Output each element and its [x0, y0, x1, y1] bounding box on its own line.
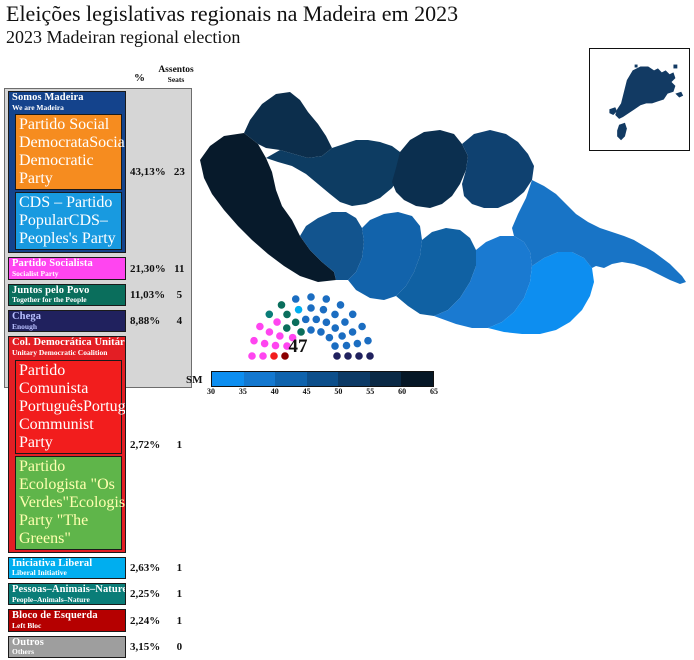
legend-party-swatch-chega[interactable]: ChegaEnough	[8, 310, 126, 332]
parliament-seat-pan[interactable]	[265, 310, 273, 318]
party-name-en: Socialist Party	[12, 270, 122, 278]
inset-region-porto-santo[interactable]	[615, 66, 675, 118]
legend-values: 2,25%1	[126, 583, 190, 605]
legend-values: 2,72%1	[126, 336, 190, 552]
region-santana[interactable]	[392, 130, 468, 208]
legend-percent-be: 2,24%	[126, 615, 169, 627]
scale-segment-1	[244, 372, 276, 386]
parliament-seat-il[interactable]	[294, 305, 302, 313]
parliament-seat-somos-madeira[interactable]	[322, 318, 330, 326]
legend-subparty-swatch-cds-pp[interactable]: CDS – Partido PopularCDS–Peoples's Party	[15, 192, 122, 250]
parliament-seat-somos-madeira[interactable]	[307, 326, 315, 334]
legend-party-name-be: Bloco de EsquerdaLeft Bloc	[9, 610, 125, 630]
legend-seats-somos-madeira: 23	[169, 166, 190, 178]
parliament-seat-chega[interactable]	[366, 352, 374, 360]
legend-row[interactable]: ChegaEnough8,88%4	[5, 308, 193, 334]
legend-party-name-pan: Pessoas–Animais–NaturezaPeople–Animals–N…	[9, 584, 125, 604]
parliament-seat-somos-madeira[interactable]	[312, 315, 320, 323]
legend-seats-ps: 11	[169, 263, 190, 275]
scale-tick-55: 55	[366, 387, 374, 396]
parliament-seat-somos-madeira[interactable]	[302, 315, 310, 323]
inset-islet-dot-ne	[673, 65, 677, 69]
legend-row[interactable]: Iniciativa LiberalLiberal Initiative2,63…	[5, 555, 193, 581]
parliament-seat-somos-madeira[interactable]	[353, 339, 361, 347]
scale-segment-6	[401, 372, 433, 386]
legend-percent-il: 2,63%	[126, 562, 169, 574]
legend-subparty-swatch-pcp[interactable]: Partido Comunista PortuguêsPortuguese Co…	[15, 360, 122, 454]
scale-tick-60: 60	[398, 387, 406, 396]
parliament-seat-jpp[interactable]	[277, 301, 285, 309]
parliament-seat-ps[interactable]	[256, 322, 264, 330]
parliament-seat-somos-madeira[interactable]	[331, 310, 339, 318]
legend-values: 8,88%4	[126, 310, 190, 332]
legend-party-swatch-cdu[interactable]: Col. Democrática UnitáriaUnitary Democra…	[8, 336, 126, 552]
region-machico-north[interactable]	[462, 130, 534, 208]
inset-islet-dot-n	[635, 65, 638, 68]
parliament-seat-jpp[interactable]	[297, 328, 305, 336]
legend-party-name-cdu: Col. Democrática UnitáriaUnitary Democra…	[9, 337, 125, 357]
parliament-seat-somos-madeira[interactable]	[348, 328, 356, 336]
parliament-seat-chega[interactable]	[333, 352, 341, 360]
legend-party-name-il: Iniciativa LiberalLiberal Initiative	[9, 558, 125, 578]
legend-seats-pan: 1	[169, 588, 190, 600]
legend-values: 2,24%1	[126, 609, 190, 631]
legend-percent-chega: 8,88%	[126, 315, 169, 327]
parliament-seat-jpp[interactable]	[283, 324, 291, 332]
party-name-en: Enough	[12, 323, 122, 331]
party-name-en: Others	[12, 648, 122, 656]
scale-party-abbr: SM	[186, 374, 203, 386]
legend-percent-jpp: 11,03%	[126, 289, 169, 301]
subparty-name-pt: Partido Comunista Português	[19, 362, 88, 415]
parliament-seat-somos-madeira[interactable]	[307, 304, 315, 312]
legend-header-seats-pt: Assentos	[152, 66, 200, 75]
parliament-seat-chega[interactable]	[344, 352, 352, 360]
legend-party-swatch-be[interactable]: Bloco de EsquerdaLeft Bloc	[8, 609, 126, 631]
map-color-scale	[211, 371, 434, 387]
legend-percent-pan: 2,25%	[126, 588, 169, 600]
infographic-root: Eleições legislativas regionais na Madei…	[0, 0, 694, 405]
map-color-scale-ticks: 3035404550556065	[205, 387, 441, 399]
legend-row[interactable]: Somos MadeiraWe are MadeiraPartido Socia…	[5, 89, 193, 255]
scale-segment-5	[370, 372, 402, 386]
party-legend-rows: Somos MadeiraWe are MadeiraPartido Socia…	[5, 89, 193, 660]
parliament-seat-somos-madeira[interactable]	[307, 293, 315, 301]
scale-tick-40: 40	[271, 387, 279, 396]
party-name-en: We are Madeira	[12, 104, 122, 112]
parliament-seat-somos-madeira[interactable]	[358, 322, 366, 330]
party-legend-table: Somos MadeiraWe are MadeiraPartido Socia…	[4, 88, 192, 388]
parliament-seat-ps[interactable]	[250, 337, 258, 345]
legend-row[interactable]: Juntos pelo PovoTogether for the People1…	[5, 282, 193, 308]
legend-percent-ps: 21,30%	[126, 263, 169, 275]
party-name-en: Liberal Initiative	[12, 569, 122, 577]
scale-segment-0	[212, 372, 244, 386]
party-name-en: Left Bloc	[12, 622, 122, 630]
legend-seats-be: 1	[169, 615, 190, 627]
scale-tick-50: 50	[334, 387, 342, 396]
legend-percent-somos-madeira: 43,13%	[126, 166, 169, 178]
legend-percent-outros: 3,15%	[126, 641, 169, 653]
legend-values: 11,03%5	[126, 284, 190, 306]
parliament-seat-somos-madeira[interactable]	[341, 318, 349, 326]
scale-segment-2	[275, 372, 307, 386]
inset-map-svg	[590, 49, 688, 149]
legend-header-seats-en: Seats	[152, 75, 200, 84]
parliament-seat-somos-madeira[interactable]	[331, 324, 339, 332]
legend-row[interactable]: Bloco de EsquerdaLeft Bloc2,24%1	[5, 607, 193, 633]
parliament-seat-somos-madeira[interactable]	[317, 328, 325, 336]
legend-party-swatch-jpp[interactable]: Juntos pelo PovoTogether for the People	[8, 284, 126, 306]
legend-party-name-chega: ChegaEnough	[9, 311, 125, 331]
parliament-seat-ps[interactable]	[259, 352, 267, 360]
parliament-seat-somos-madeira[interactable]	[342, 341, 350, 349]
legend-seats-cdu: 1	[169, 439, 190, 451]
parliament-total-seats: 47	[273, 336, 323, 358]
legend-header-percent: %	[134, 72, 145, 84]
parliament-seat-somos-madeira[interactable]	[331, 342, 339, 350]
parliament-seat-ps[interactable]	[248, 352, 256, 360]
legend-column-headers: % Assentos Seats	[4, 66, 192, 88]
parliament-seat-chega[interactable]	[355, 352, 363, 360]
party-name-pt: Bloco de Esquerda	[12, 611, 122, 622]
parliament-seat-somos-madeira[interactable]	[322, 295, 330, 303]
legend-party-name-ps: Partido SocialistaSocialist Party	[9, 258, 125, 278]
legend-values: 43,13%23	[126, 91, 190, 253]
legend-party-swatch-il[interactable]: Iniciativa LiberalLiberal Initiative	[8, 557, 126, 579]
parliament-seat-somos-madeira[interactable]	[364, 337, 372, 345]
legend-row[interactable]: Partido SocialistaSocialist Party21,30%1…	[5, 255, 193, 281]
legend-seats-il: 1	[169, 562, 190, 574]
legend-row[interactable]: OutrosOthers3,15%0	[5, 634, 193, 660]
party-name-en: People–Animals–Nature	[12, 596, 122, 604]
scale-tick-65: 65	[430, 387, 438, 396]
parliament-seat-somos-madeira[interactable]	[349, 310, 357, 318]
legend-party-swatch-pan[interactable]: Pessoas–Animais–NaturezaPeople–Animals–N…	[8, 583, 126, 605]
scale-segment-3	[307, 372, 339, 386]
parliament-seat-somos-madeira[interactable]	[338, 332, 346, 340]
legend-values: 2,63%1	[126, 557, 190, 579]
scale-tick-45: 45	[303, 387, 311, 396]
legend-party-swatch-ps[interactable]: Partido SocialistaSocialist Party	[8, 257, 126, 279]
parliament-seat-ps[interactable]	[260, 339, 268, 347]
parliament-seat-somos-madeira[interactable]	[319, 305, 327, 313]
legend-values: 21,30%11	[126, 257, 190, 279]
legend-party-name-outros: OutrosOthers	[9, 637, 125, 657]
legend-party-name-jpp: Juntos pelo PovoTogether for the People	[9, 285, 125, 305]
legend-party-name-somos-madeira: Somos MadeiraWe are Madeira	[9, 92, 125, 112]
scale-tick-30: 30	[207, 387, 215, 396]
inset-map-porto-santo	[589, 48, 690, 151]
legend-subparty-swatch-psd[interactable]: Partido Social DemocrataSocial Democrati…	[15, 114, 122, 190]
party-name-en: Together for the People	[12, 296, 122, 304]
inset-islet-south	[617, 123, 627, 140]
legend-values: 3,15%0	[126, 636, 190, 658]
legend-subparty-swatch-pev[interactable]: Partido Ecologista "Os Verdes"Ecologist …	[15, 456, 122, 550]
party-name-pt: Iniciativa Liberal	[12, 559, 122, 570]
legend-seats-jpp: 5	[169, 289, 190, 301]
legend-row[interactable]: Pessoas–Animais–NaturezaPeople–Animals–N…	[5, 581, 193, 607]
legend-party-swatch-somos-madeira[interactable]: Somos MadeiraWe are MadeiraPartido Socia…	[8, 91, 126, 253]
parliament-seat-somos-madeira[interactable]	[325, 333, 333, 341]
parliament-seat-ps[interactable]	[265, 328, 273, 336]
parliament-seat-jpp[interactable]	[283, 310, 291, 318]
legend-header-seats: Assentos Seats	[152, 66, 200, 84]
parliament-seat-ps[interactable]	[273, 318, 281, 326]
parliament-seat-jpp[interactable]	[291, 318, 299, 326]
scale-segment-4	[338, 372, 370, 386]
legend-percent-cdu: 2,72%	[126, 439, 169, 451]
parliament-seat-somos-madeira[interactable]	[336, 301, 344, 309]
party-name-en: Unitary Democratic Coalition	[12, 349, 122, 357]
parliament-seat-somos-madeira[interactable]	[292, 295, 300, 303]
scale-tick-35: 35	[239, 387, 247, 396]
legend-seats-outros: 0	[169, 641, 190, 653]
party-name-pt: Pessoas–Animais–Natureza	[12, 585, 122, 596]
legend-seats-chega: 4	[169, 315, 190, 327]
legend-row[interactable]: Col. Democrática UnitáriaUnitary Democra…	[5, 334, 193, 554]
legend-party-swatch-outros[interactable]: OutrosOthers	[8, 636, 126, 658]
party-name-pt: Outros	[12, 638, 122, 649]
inset-islet-east	[675, 92, 683, 98]
